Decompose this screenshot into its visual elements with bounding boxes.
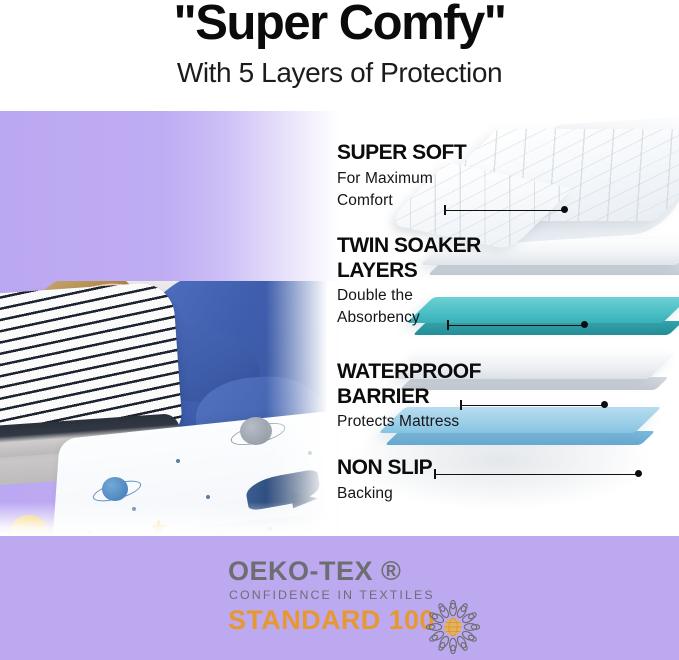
leader-bar [444, 210, 564, 211]
leader-bar [447, 325, 584, 326]
callout-twin-soaker-layers: TWIN SOAKER LAYERS Double the Absorbency [337, 234, 512, 329]
leader-dot [635, 470, 642, 477]
callout-non-slip: NON SLIP Backing [337, 456, 467, 505]
callout-subtitle: Backing [337, 483, 467, 505]
leader-line-waterproof-barrier [460, 399, 608, 411]
oeko-tex-footer-band: OEKO-TEX ® CONFIDENCE IN TEXTILES STANDA… [0, 536, 679, 660]
product-infographic: "Super Comfy" With 5 Layers of Protectio… [0, 0, 679, 660]
oeko-tex-standard: STANDARD 100 [228, 605, 435, 636]
photo-fade-right [266, 281, 336, 536]
leader-line-super-soft [444, 204, 568, 216]
sleeping-child-photo [0, 281, 336, 536]
leader-dot [601, 401, 608, 408]
callout-title: TWIN SOAKER LAYERS [337, 234, 512, 283]
leader-bar [434, 474, 638, 475]
callout-super-soft: SUPER SOFT For Maximum Comfort [337, 141, 467, 212]
main-illustration-area: SUPER SOFT For Maximum Comfort TWIN SOAK… [0, 111, 679, 536]
callout-subtitle: Protects Mattress [337, 411, 512, 433]
oeko-tex-flower-logo [426, 600, 480, 654]
page-subtitle: With 5 Layers of Protection [0, 56, 679, 90]
photo-fade-bottom [0, 502, 336, 536]
leader-dot [581, 321, 588, 328]
oeko-tex-brand: OEKO-TEX ® [228, 556, 401, 587]
callout-waterproof-barrier: WATERPROOF BARRIER Protects Mattress [337, 360, 512, 433]
leader-dot [561, 206, 568, 213]
planet-blue [102, 477, 128, 501]
leader-line-twin-soaker-layers [447, 319, 587, 331]
leader-line-non-slip [434, 468, 642, 480]
star-dot [176, 459, 180, 463]
oeko-tex-badge: OEKO-TEX ® CONFIDENCE IN TEXTILES STANDA… [0, 536, 679, 660]
callout-title: SUPER SOFT [337, 141, 467, 166]
oeko-tex-tagline: CONFIDENCE IN TEXTILES [229, 588, 435, 602]
header-banner: "Super Comfy" With 5 Layers of Protectio… [0, 0, 679, 111]
leader-bar [460, 405, 604, 406]
page-title: "Super Comfy" [0, 0, 679, 49]
star-dot [206, 495, 210, 499]
